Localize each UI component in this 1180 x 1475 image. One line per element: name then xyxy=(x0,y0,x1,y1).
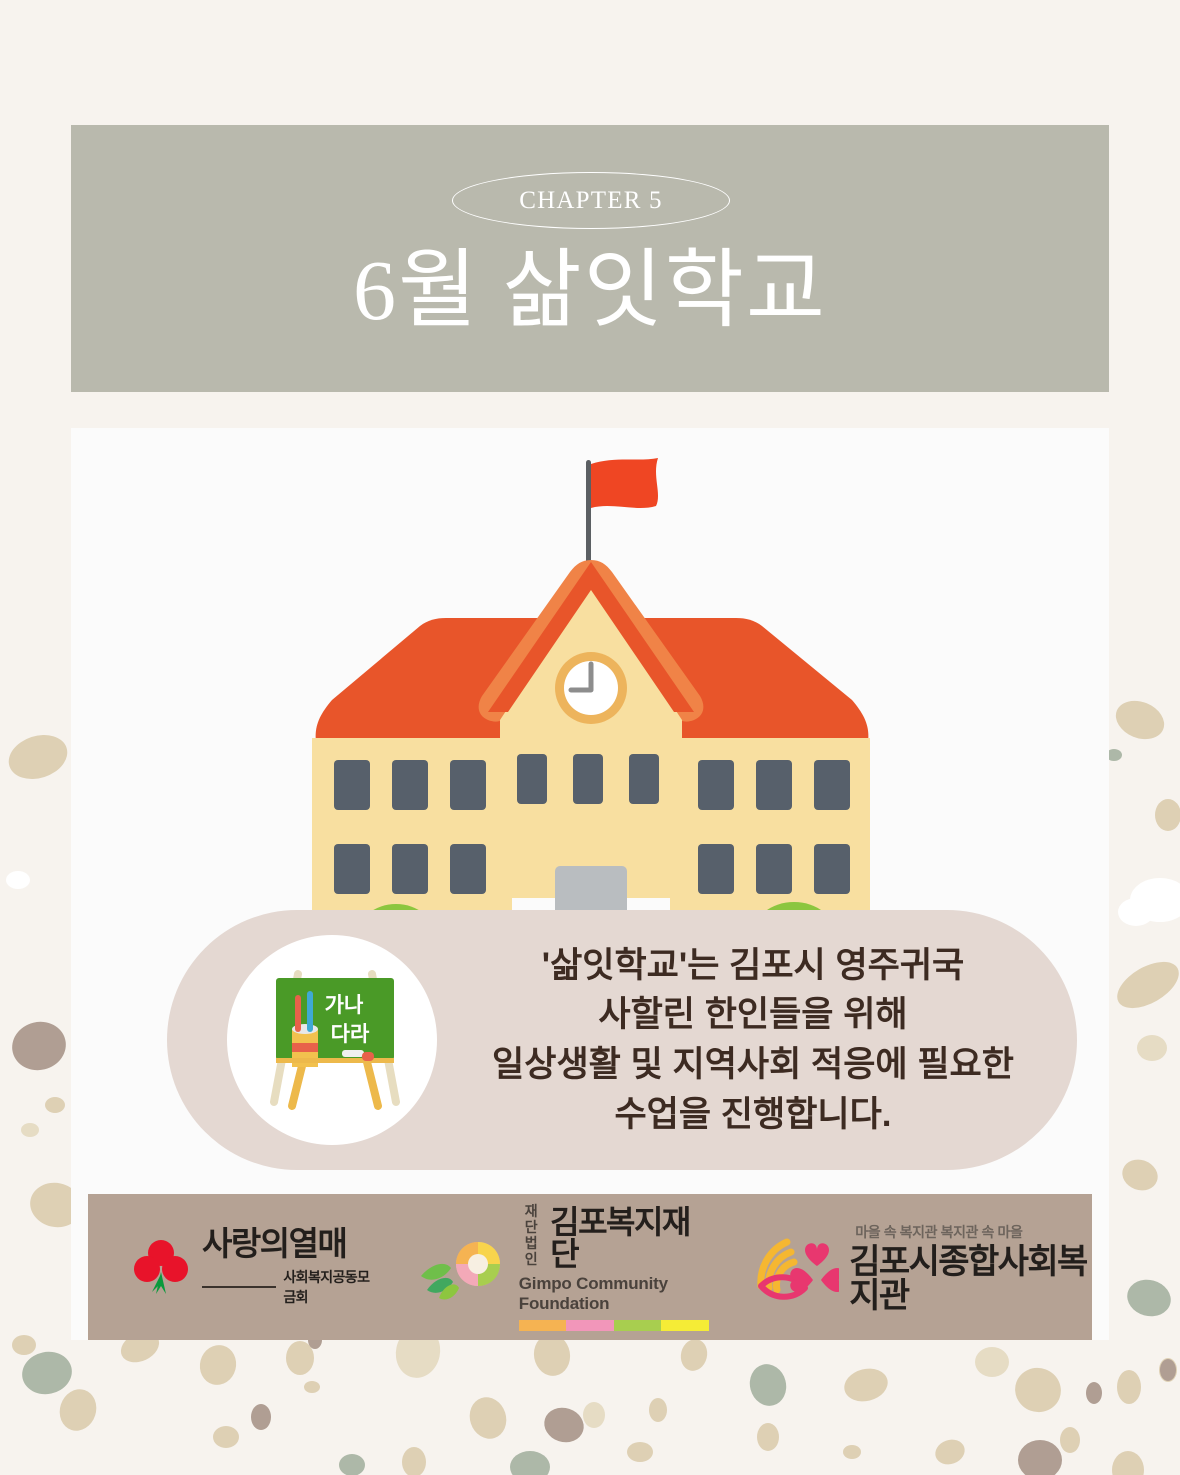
blackboard-icon-circle: 가나 다라 xyxy=(227,935,437,1145)
logo1-rule xyxy=(202,1286,276,1288)
logo2-english-name: Gimpo Community Foundation xyxy=(519,1274,715,1314)
heart-clover-icon xyxy=(753,1230,839,1304)
chapter-badge: CHAPTER 5 xyxy=(452,172,730,229)
content-card: 가나 다라 '삶잇학교'는 김포시 영주귀국 사할린 한인 xyxy=(71,428,1109,1340)
bubble-description: '삶잇학교'는 김포시 영주귀국 사할린 한인들을 위해 일상생활 및 지역사회… xyxy=(457,910,1049,1170)
page-title: 6월 삶잇학교 xyxy=(71,245,1109,335)
school-building-illustration xyxy=(270,442,910,912)
bubble-line-1: '삶잇학교'는 김포시 영주귀국 xyxy=(542,941,965,991)
flag-icon xyxy=(591,458,658,508)
logo1-text-block: 사랑의열매 사회복지공동모금회 xyxy=(202,1227,373,1307)
flag-pole-icon xyxy=(586,460,591,570)
logo3-name: 김포시종합사회복지관 xyxy=(849,1245,1092,1313)
blackboard-easel-icon: 가나 다라 xyxy=(246,954,418,1126)
three-red-berries-icon xyxy=(130,1236,192,1298)
logo3-text-block: 마을 속 복지관 복지관 속 마을 김포시종합사회복지관 xyxy=(849,1222,1092,1313)
logo2-prefix-line2: 법인 xyxy=(519,1235,543,1267)
logo1-sub-row: 사회복지공동모금회 xyxy=(202,1267,373,1307)
svg-text:다라: 다라 xyxy=(331,1023,370,1046)
bubble-line-2: 사할린 한인들을 위해 xyxy=(598,990,907,1040)
header-banner: CHAPTER 5 6월 삶잇학교 xyxy=(71,125,1109,392)
poster-page: CHAPTER 5 6월 삶잇학교 xyxy=(0,0,1180,1475)
logo-sarangui-yeolmae: 사랑의열매 사회복지공동모금회 xyxy=(130,1194,373,1340)
logo2-text-block: 재단 법인 김포복지재단 Gimpo Community Foundation xyxy=(519,1203,715,1331)
logo2-color-bars xyxy=(519,1320,709,1331)
sponsor-logo-bar: 사랑의열매 사회복지공동모금회 xyxy=(88,1194,1092,1340)
logo2-prefix-line1: 재단 xyxy=(519,1203,543,1235)
logo3-tagline: 마을 속 복지관 복지관 속 마을 xyxy=(855,1222,1092,1242)
logo2-name-row: 재단 법인 김포복지재단 xyxy=(519,1203,715,1270)
svg-text:가나: 가나 xyxy=(325,994,364,1017)
chapter-label: CHAPTER 5 xyxy=(519,187,662,215)
bubble-line-3: 일상생활 및 지역사회 적응에 필요한 xyxy=(492,1040,1014,1090)
logo-gimpo-community-welfare-center: 마을 속 복지관 복지관 속 마을 김포시종합사회복지관 xyxy=(753,1194,1092,1340)
logo1-name: 사랑의열매 xyxy=(202,1227,373,1260)
info-bubble: 가나 다라 '삶잇학교'는 김포시 영주귀국 사할린 한인 xyxy=(167,910,1077,1170)
window-row-upper xyxy=(334,754,850,810)
entrance-door xyxy=(555,866,627,912)
logo1-subtitle: 사회복지공동모금회 xyxy=(283,1267,372,1307)
logo2-prefix: 재단 법인 xyxy=(519,1203,543,1267)
logo-gimpo-welfare-foundation: 재단 법인 김포복지재단 Gimpo Community Foundation xyxy=(417,1194,715,1340)
logo2-name: 김포복지재단 xyxy=(550,1206,715,1270)
bubble-line-4: 수업을 진행합니다. xyxy=(614,1090,891,1140)
flower-swirl-icon xyxy=(417,1228,509,1306)
